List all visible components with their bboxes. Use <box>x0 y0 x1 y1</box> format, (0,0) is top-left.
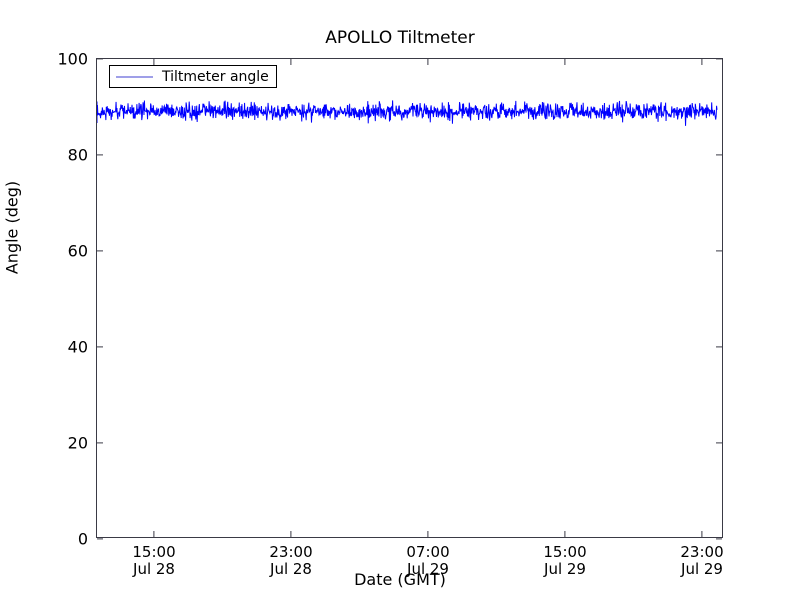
legend-line-sample-icon <box>116 76 153 78</box>
xtick-time-2: 07:00 <box>406 543 449 561</box>
xtick-time-0: 15:00 <box>132 543 175 561</box>
x-axis-label: Date (GMT) <box>0 570 800 589</box>
ytick-mark-0-right <box>716 538 722 539</box>
ytick-label-60: 60 <box>68 242 88 261</box>
y-axis-label: Angle (deg) <box>3 18 22 438</box>
ytick-mark-0 <box>97 538 103 539</box>
ytick-label-0: 0 <box>78 530 88 549</box>
chart-legend: Tiltmeter angle <box>109 65 277 88</box>
xtick-time-3: 15:00 <box>543 543 586 561</box>
plot-axes: 0 20 40 60 80 100 15:00 Jul 28 23:00 Jul… <box>96 58 723 538</box>
ytick-label-20: 20 <box>68 434 88 453</box>
ytick-label-40: 40 <box>68 338 88 357</box>
matplotlib-figure: APOLLO Tiltmeter 0 20 40 60 80 100 15:00… <box>0 0 800 600</box>
ytick-label-80: 80 <box>68 146 88 165</box>
ytick-label-100: 100 <box>57 50 88 69</box>
legend-entry-label: Tiltmeter angle <box>162 70 269 84</box>
xtick-time-4: 23:00 <box>680 543 723 561</box>
data-line-tiltmeter-angle <box>97 59 722 537</box>
page-title: APOLLO Tiltmeter <box>0 28 800 48</box>
xtick-time-1: 23:00 <box>269 543 312 561</box>
